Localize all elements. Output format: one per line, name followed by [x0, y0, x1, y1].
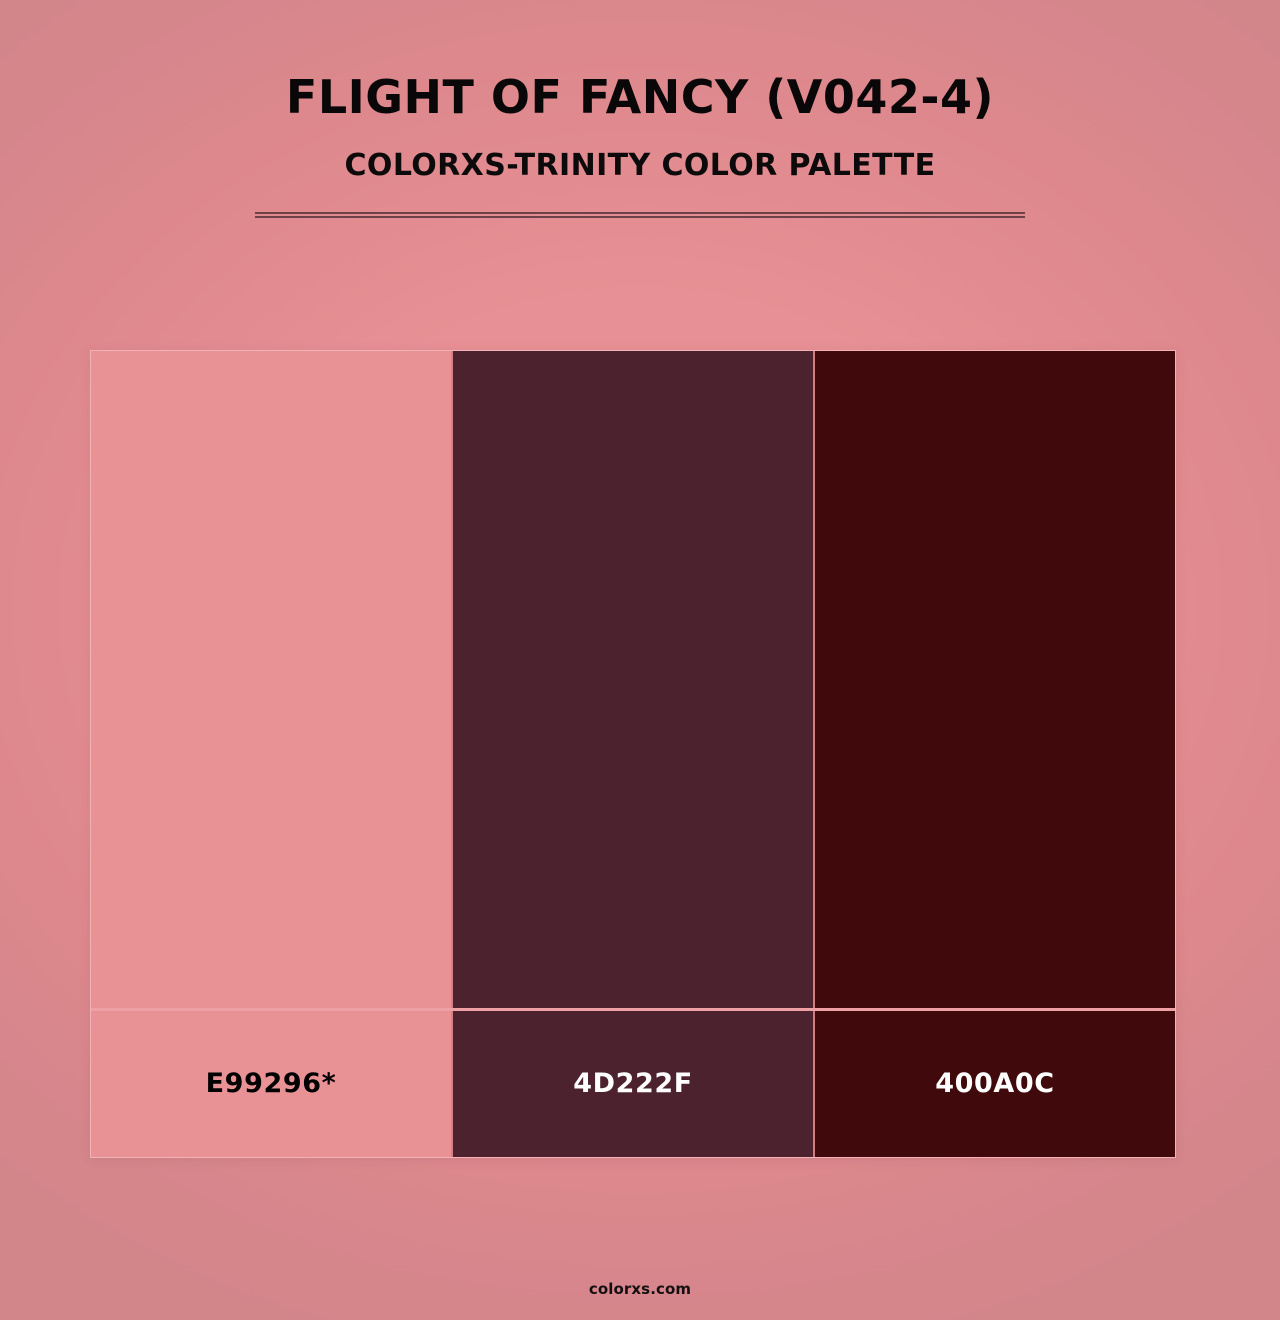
header-rule-line-bottom [255, 216, 1025, 218]
page-header: FLIGHT OF FANCY (V042-4) COLORXS-TRINITY… [0, 0, 1280, 218]
palette-page: FLIGHT OF FANCY (V042-4) COLORXS-TRINITY… [0, 0, 1280, 1320]
color-label-cell-3[interactable]: 400A0C [813, 1011, 1175, 1157]
color-hex-label-1: E99296* [206, 1068, 337, 1099]
color-hex-label-2: 4D222F [573, 1068, 693, 1099]
label-row: E99296* 4D222F 400A0C [91, 1011, 1175, 1157]
color-label-cell-2[interactable]: 4D222F [451, 1011, 813, 1157]
color-swatch-3[interactable] [813, 351, 1175, 1008]
header-rule [255, 212, 1025, 218]
color-label-cell-1[interactable]: E99296* [91, 1011, 451, 1157]
swatch-row [91, 351, 1175, 1008]
color-palette-panel: E99296* 4D222F 400A0C [90, 350, 1176, 1158]
page-footer: colorxs.com [0, 1279, 1280, 1298]
footer-site-label: colorxs.com [589, 1280, 691, 1298]
color-swatch-2[interactable] [451, 351, 813, 1008]
color-swatch-1[interactable] [91, 351, 451, 1008]
color-hex-label-3: 400A0C [935, 1068, 1054, 1099]
page-subtitle: COLORXS-TRINITY COLOR PALETTE [0, 148, 1280, 184]
page-title: FLIGHT OF FANCY (V042-4) [0, 72, 1280, 124]
